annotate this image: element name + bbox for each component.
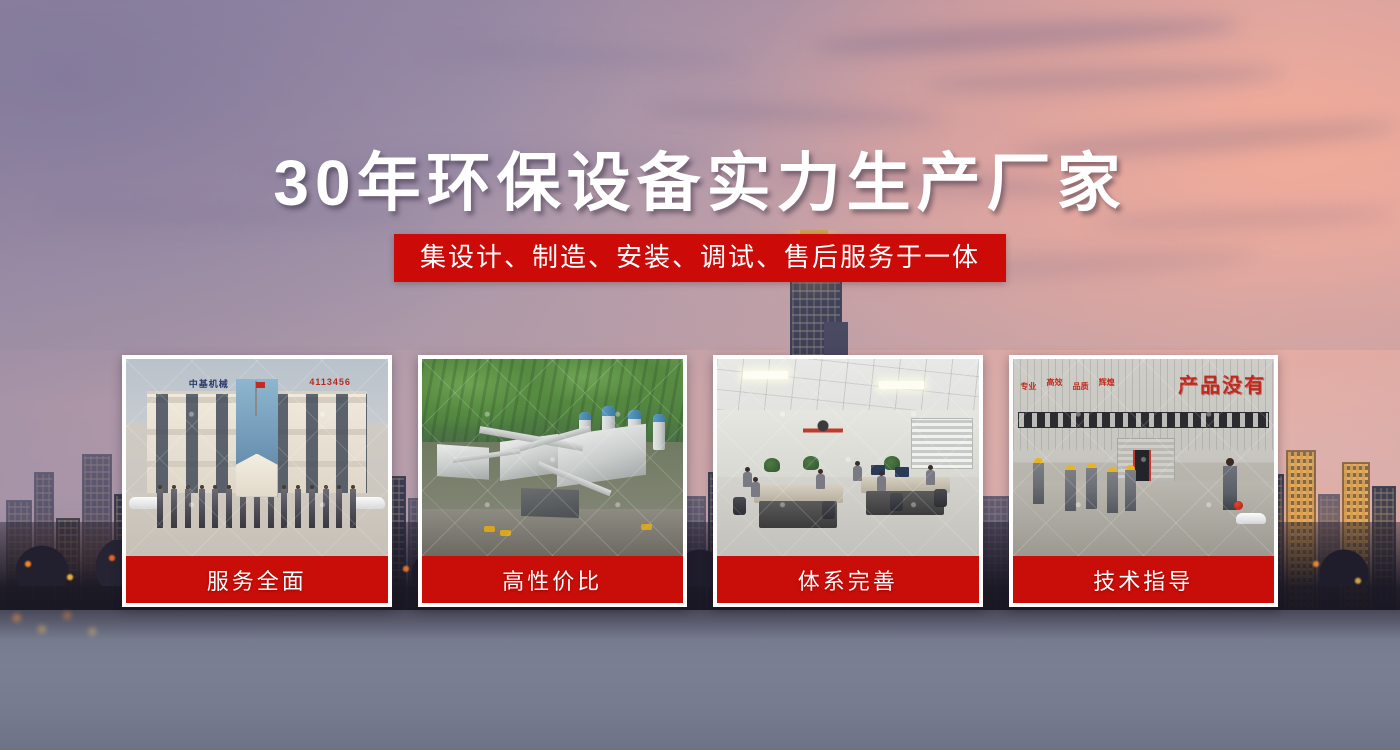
card-label: 高性价比 xyxy=(422,556,684,603)
feature-card-list: 中基机械 4113456 服务全面 xyxy=(122,355,1278,607)
card-label: 体系完善 xyxy=(717,556,979,603)
factory-sign-text: 产品没有 xyxy=(1178,369,1266,398)
wall-logo-icon xyxy=(803,418,843,444)
card-label: 服务全面 xyxy=(126,556,388,603)
river-reflections xyxy=(0,604,420,650)
factory-slogan: 专业 xyxy=(1020,383,1036,392)
feature-card[interactable]: 中基机械 4113456 服务全面 xyxy=(122,355,392,607)
building-signage: 中基机械 xyxy=(189,377,229,390)
page-title: 30年环保设备实力生产厂家 xyxy=(0,132,1400,224)
promo-banner: 30年环保设备实力生产厂家 集设计、制造、安装、调试、售后服务于一体 中基机械 … xyxy=(0,0,1400,750)
red-helmet-icon xyxy=(1234,501,1243,510)
subtitle-container: 集设计、制造、安装、调试、售后服务于一体 xyxy=(0,234,1400,282)
card-photo-industrial-plant xyxy=(422,359,684,556)
feature-card[interactable]: 高性价比 xyxy=(418,355,688,607)
subtitle-badge: 集设计、制造、安装、调试、售后服务于一体 xyxy=(394,234,1006,282)
feature-card[interactable]: 体系完善 xyxy=(713,355,983,607)
feature-card[interactable]: 产品没有 专业 高效 品质 辉煌 技术指导 xyxy=(1009,355,1279,607)
building-phone-number: 4113456 xyxy=(309,377,351,387)
factory-slogan: 辉煌 xyxy=(1099,379,1115,388)
card-photo-factory-workers: 产品没有 专业 高效 品质 辉煌 xyxy=(1013,359,1275,556)
card-label: 技术指导 xyxy=(1013,556,1275,603)
factory-slogan: 高效 xyxy=(1046,379,1062,388)
flag-icon xyxy=(255,381,257,416)
card-photo-office-interior xyxy=(717,359,979,556)
factory-slogan: 品质 xyxy=(1073,383,1089,392)
card-photo-office-building: 中基机械 4113456 xyxy=(126,359,388,556)
